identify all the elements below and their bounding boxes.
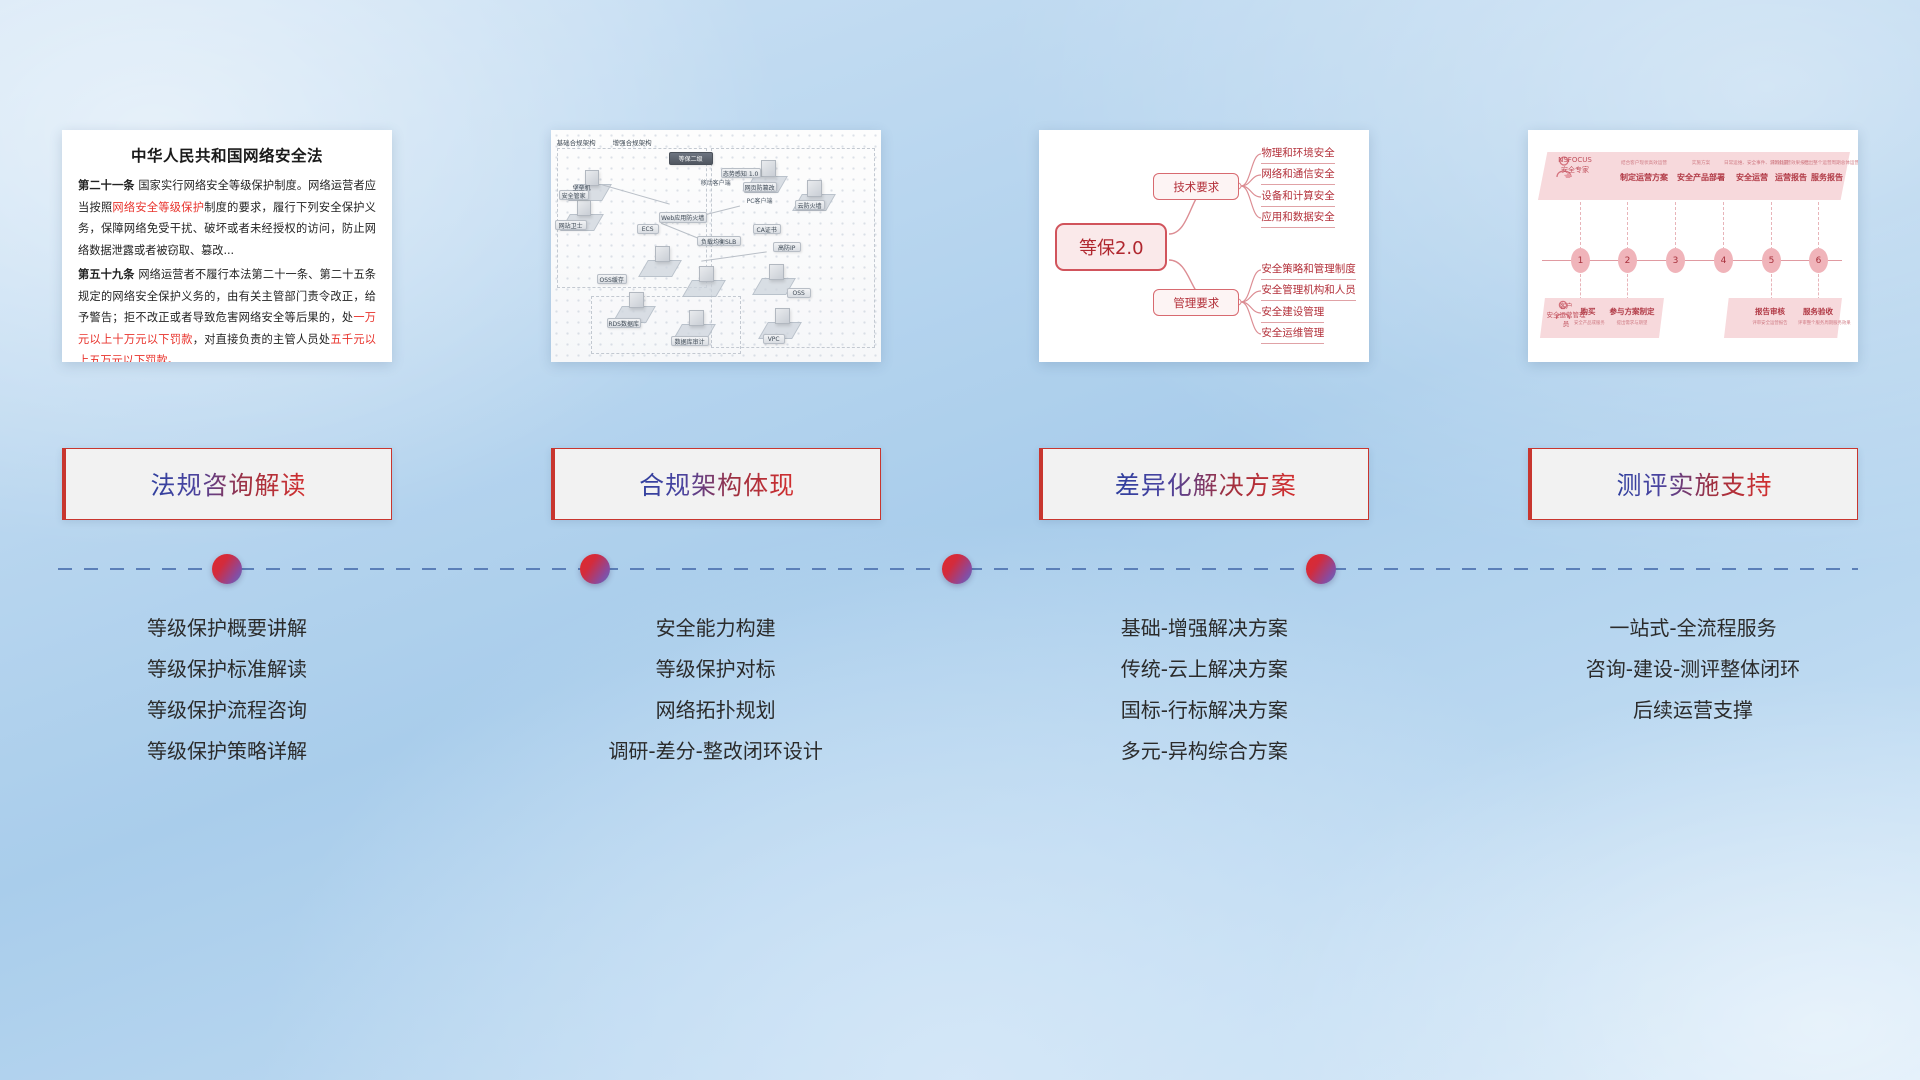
banner-label-3: 测评实施支持 bbox=[1616, 466, 1772, 502]
arch-node-level2: 等保二级 bbox=[669, 152, 713, 165]
mindmap-leaf-tech-2: 设备和计算安全 bbox=[1261, 189, 1335, 207]
nsfocus-bottom-3-sub: 评审整个服务周期服务效果 bbox=[1798, 320, 1838, 326]
list-item: 等级保护流程咨询 bbox=[62, 690, 392, 731]
mindmap-root: 等保2.0 bbox=[1055, 223, 1167, 271]
nsfocus-step-4: 给出整个运营周期总体运营效果 服务报告 bbox=[1804, 160, 1850, 183]
nsfocus-step-0-sub: 结合客户现状高效运营 bbox=[1614, 160, 1674, 167]
timeline-dot-1[interactable] bbox=[580, 554, 610, 584]
list-item: 咨询-建设-测评整体闭环 bbox=[1528, 649, 1858, 690]
arch-node-11: VPC bbox=[763, 334, 785, 344]
banner-label-1: 合规架构体现 bbox=[639, 466, 795, 502]
list-item: 基础-增强解决方案 bbox=[1039, 608, 1369, 649]
nsfocus-bottom-0-sub: 安全产品或服务 bbox=[1574, 320, 1602, 326]
nsfocus-tick-b2 bbox=[1771, 274, 1772, 300]
arch-header-right: 增强合规架构 bbox=[613, 137, 652, 147]
nsfocus-bottom-1-main: 参与方案制定 bbox=[1608, 306, 1656, 317]
nsfocus-expert-line2: 安全专家 bbox=[1561, 166, 1589, 174]
nsfocus-bottom-1: 参与方案制定 提出需求与期望 bbox=[1608, 306, 1656, 326]
nsfocus-step-4-main: 服务报告 bbox=[1804, 172, 1850, 183]
nsfocus-step-4-sub: 给出整个运营周期总体运营效果 bbox=[1804, 160, 1850, 167]
arch-cube-6 bbox=[699, 266, 714, 282]
nsfocus-node-0: 1 bbox=[1571, 248, 1590, 273]
list-item: 后续运营支撑 bbox=[1528, 690, 1858, 731]
banner-differentiated-solution[interactable]: 差异化解决方案 bbox=[1039, 448, 1369, 520]
arch-node-3: 云防火墙 bbox=[795, 200, 825, 210]
arch-node-16: PC客户端 bbox=[747, 196, 773, 205]
card-nsfocus-service-timeline: NSFOCUS 安全专家 结合客户现状高效运营 制定运营方案 实施方案 安全产品… bbox=[1528, 130, 1858, 362]
list-item: 传统-云上解决方案 bbox=[1039, 649, 1369, 690]
mindmap-leaf-mgmt-0: 安全策略和管理制度 bbox=[1261, 262, 1356, 280]
arch-header-left: 基础合规架构 bbox=[557, 137, 596, 147]
mindmap-leaf-tech-1: 网络和通信安全 bbox=[1261, 167, 1335, 185]
nsfocus-step-1-sub: 实施方案 bbox=[1672, 160, 1730, 167]
arch-cube-9 bbox=[689, 310, 704, 326]
nsfocus-expert-label: NSFOCUS 安全专家 bbox=[1546, 156, 1604, 175]
arch-node-9: 高防IP bbox=[773, 242, 801, 252]
nsfocus-node-1: 2 bbox=[1618, 248, 1637, 273]
card-mindmap-dengbao: 等保2.0 技术要求 管理要求 物理和环境安全 网络和通信安全 设备和计算安全 … bbox=[1039, 130, 1369, 362]
list-item: 等级保护策略详解 bbox=[62, 731, 392, 772]
arch-node-12: RDS数据库 bbox=[607, 318, 641, 328]
nsfocus-tick-2 bbox=[1675, 202, 1676, 250]
timeline-dot-2[interactable] bbox=[942, 554, 972, 584]
list-item: 调研-差分-整改闭环设计 bbox=[551, 731, 881, 772]
list-item: 一站式-全流程服务 bbox=[1528, 608, 1858, 649]
banner-row: 法规咨询解读 合规架构体现 差异化解决方案 测评实施支持 bbox=[62, 448, 1858, 520]
arch-node-2: 网页防篡改 bbox=[743, 182, 777, 192]
list-column-1: 安全能力构建 等级保护对标 网络拓扑规划 调研-差分-整改闭环设计 bbox=[551, 608, 881, 772]
card-compliance-architecture: 基础合规架构 增强合规架构 等保二级 安全管家 网站卫士 网页防篡改 bbox=[551, 130, 881, 362]
arch-cube-4 bbox=[807, 180, 822, 197]
nsfocus-tick-b1 bbox=[1627, 274, 1628, 300]
nsfocus-customer-line1: 客户 bbox=[1559, 302, 1572, 310]
arch-cube-8 bbox=[629, 292, 644, 308]
arch-cube-5 bbox=[655, 246, 670, 262]
mindmap-leaf-tech-0: 物理和环境安全 bbox=[1261, 146, 1335, 164]
arch-node-7: ECS bbox=[637, 224, 659, 234]
arch-node-17: 移动客户端 bbox=[701, 178, 731, 187]
list-column-2: 基础-增强解决方案 传统-云上解决方案 国标-行标解决方案 多元-异构综合方案 bbox=[1039, 608, 1369, 772]
nsfocus-node-2: 3 bbox=[1666, 248, 1685, 273]
nsfocus-tick-0 bbox=[1580, 202, 1581, 250]
nsfocus-step-0-main: 制定运营方案 bbox=[1614, 172, 1674, 183]
nsfocus-tick-5 bbox=[1818, 202, 1819, 250]
law-title: 中华人民共和国网络安全法 bbox=[78, 144, 376, 166]
nsfocus-bottom-3-main: 服务验收 bbox=[1798, 306, 1838, 317]
card-cybersecurity-law: 中华人民共和国网络安全法 第二十一条 国家实行网络安全等级保护制度。网络运营者应… bbox=[62, 130, 392, 362]
list-row: 等级保护概要讲解 等级保护标准解读 等级保护流程咨询 等级保护策略详解 安全能力… bbox=[62, 608, 1858, 772]
nsfocus-bottom-3: 服务验收 评审整个服务周期服务效果 bbox=[1798, 306, 1838, 326]
mindmap-leaf-tech-3: 应用和数据安全 bbox=[1261, 210, 1335, 228]
law-article-59: 第五十九条 网络运营者不履行本法第二十一条、第二十五条规定的网络安全保护义务的，… bbox=[78, 264, 376, 362]
mindmap-branch-management: 管理要求 bbox=[1153, 289, 1239, 316]
law-article-21: 第二十一条 国家实行网络安全等级保护制度。网络运营者应当按照网络安全等级保护制度… bbox=[78, 175, 376, 261]
nsfocus-tick-1 bbox=[1627, 202, 1628, 250]
banner-regulation-consulting[interactable]: 法规咨询解读 bbox=[62, 448, 392, 520]
nsfocus-step-0: 结合客户现状高效运营 制定运营方案 bbox=[1614, 160, 1674, 183]
arch-cube-2 bbox=[577, 200, 591, 216]
timeline-dot-0[interactable] bbox=[212, 554, 242, 584]
article-59-label: 第五十九条 bbox=[78, 268, 135, 281]
article-59-text-b: ，对直接负责的主管人员处 bbox=[193, 333, 331, 346]
arch-cube-10 bbox=[775, 308, 790, 324]
arch-node-10: OSS bbox=[787, 288, 811, 298]
list-item: 等级保护标准解读 bbox=[62, 649, 392, 690]
cards-row: 中华人民共和国网络安全法 第二十一条 国家实行网络安全等级保护制度。网络运营者应… bbox=[62, 130, 1858, 362]
arch-node-14: 数据库审计 bbox=[671, 336, 709, 346]
mindmap-leaf-mgmt-1: 安全管理机构和人员 bbox=[1261, 283, 1356, 301]
arch-node-1: 网站卫士 bbox=[555, 220, 587, 230]
list-item: 网络拓扑规划 bbox=[551, 690, 881, 731]
nsfocus-bottom-2-main: 报告审核 bbox=[1750, 306, 1790, 317]
nsfocus-tick-b0 bbox=[1580, 274, 1581, 300]
mindmap-leaf-mgmt-2: 安全建设管理 bbox=[1261, 305, 1324, 323]
nsfocus-node-3: 4 bbox=[1714, 248, 1733, 273]
arch-node-15: 堡垒机 bbox=[581, 186, 583, 188]
banner-compliance-architecture[interactable]: 合规架构体现 bbox=[551, 448, 881, 520]
list-item: 国标-行标解决方案 bbox=[1039, 690, 1369, 731]
mindmap-leaf-mgmt-3: 安全运维管理 bbox=[1261, 326, 1324, 344]
arch-node-0: 安全管家 bbox=[559, 190, 589, 200]
arch-node-13: OSS缓存 bbox=[597, 274, 627, 284]
arch-cube-7 bbox=[769, 264, 784, 280]
list-item: 安全能力构建 bbox=[551, 608, 881, 649]
timeline-dot-3[interactable] bbox=[1306, 554, 1336, 584]
nsfocus-bottom-1-sub: 提出需求与期望 bbox=[1608, 320, 1656, 326]
nsfocus-tick-b3 bbox=[1818, 274, 1819, 300]
list-column-0: 等级保护概要讲解 等级保护标准解读 等级保护流程咨询 等级保护策略详解 bbox=[62, 608, 392, 772]
nsfocus-node-5: 6 bbox=[1809, 248, 1828, 273]
list-item: 等级保护概要讲解 bbox=[62, 608, 392, 649]
arch-node-4: 态势感知 1.0 bbox=[721, 168, 761, 178]
arch-node-8: CA证书 bbox=[753, 224, 781, 234]
banner-evaluation-support[interactable]: 测评实施支持 bbox=[1528, 448, 1858, 520]
banner-label-0: 法规咨询解读 bbox=[150, 466, 306, 502]
nsfocus-expert-line1: NSFOCUS bbox=[1558, 156, 1592, 164]
nsfocus-bottom-2-sub: 评审安全运营报告 bbox=[1750, 320, 1790, 326]
nsfocus-bottom-0: 购买 安全产品或服务 bbox=[1574, 306, 1602, 326]
article-21-highlight: 网络安全等级保护 bbox=[112, 201, 204, 214]
banner-label-2: 差异化解决方案 bbox=[1115, 466, 1297, 502]
nsfocus-step-1: 实施方案 安全产品部署 bbox=[1672, 160, 1730, 183]
arch-node-5: Web应用防火墙 bbox=[659, 212, 707, 223]
arch-node-6: 负载均衡SLB bbox=[697, 236, 741, 246]
list-item: 多元-异构综合方案 bbox=[1039, 731, 1369, 772]
list-column-3: 一站式-全流程服务 咨询-建设-测评整体闭环 后续运营支撑 bbox=[1528, 608, 1858, 772]
nsfocus-step-1-main: 安全产品部署 bbox=[1672, 172, 1730, 183]
list-item: 等级保护对标 bbox=[551, 649, 881, 690]
nsfocus-bottom-0-main: 购买 bbox=[1574, 306, 1602, 317]
nsfocus-node-4: 5 bbox=[1762, 248, 1781, 273]
mindmap-branch-technical: 技术要求 bbox=[1153, 173, 1239, 200]
nsfocus-tick-4 bbox=[1771, 202, 1772, 250]
nsfocus-tick-3 bbox=[1723, 202, 1724, 250]
nsfocus-bottom-2: 报告审核 评审安全运营报告 bbox=[1750, 306, 1790, 326]
article-21-label: 第二十一条 bbox=[78, 179, 135, 192]
arch-cube-3 bbox=[761, 160, 776, 177]
